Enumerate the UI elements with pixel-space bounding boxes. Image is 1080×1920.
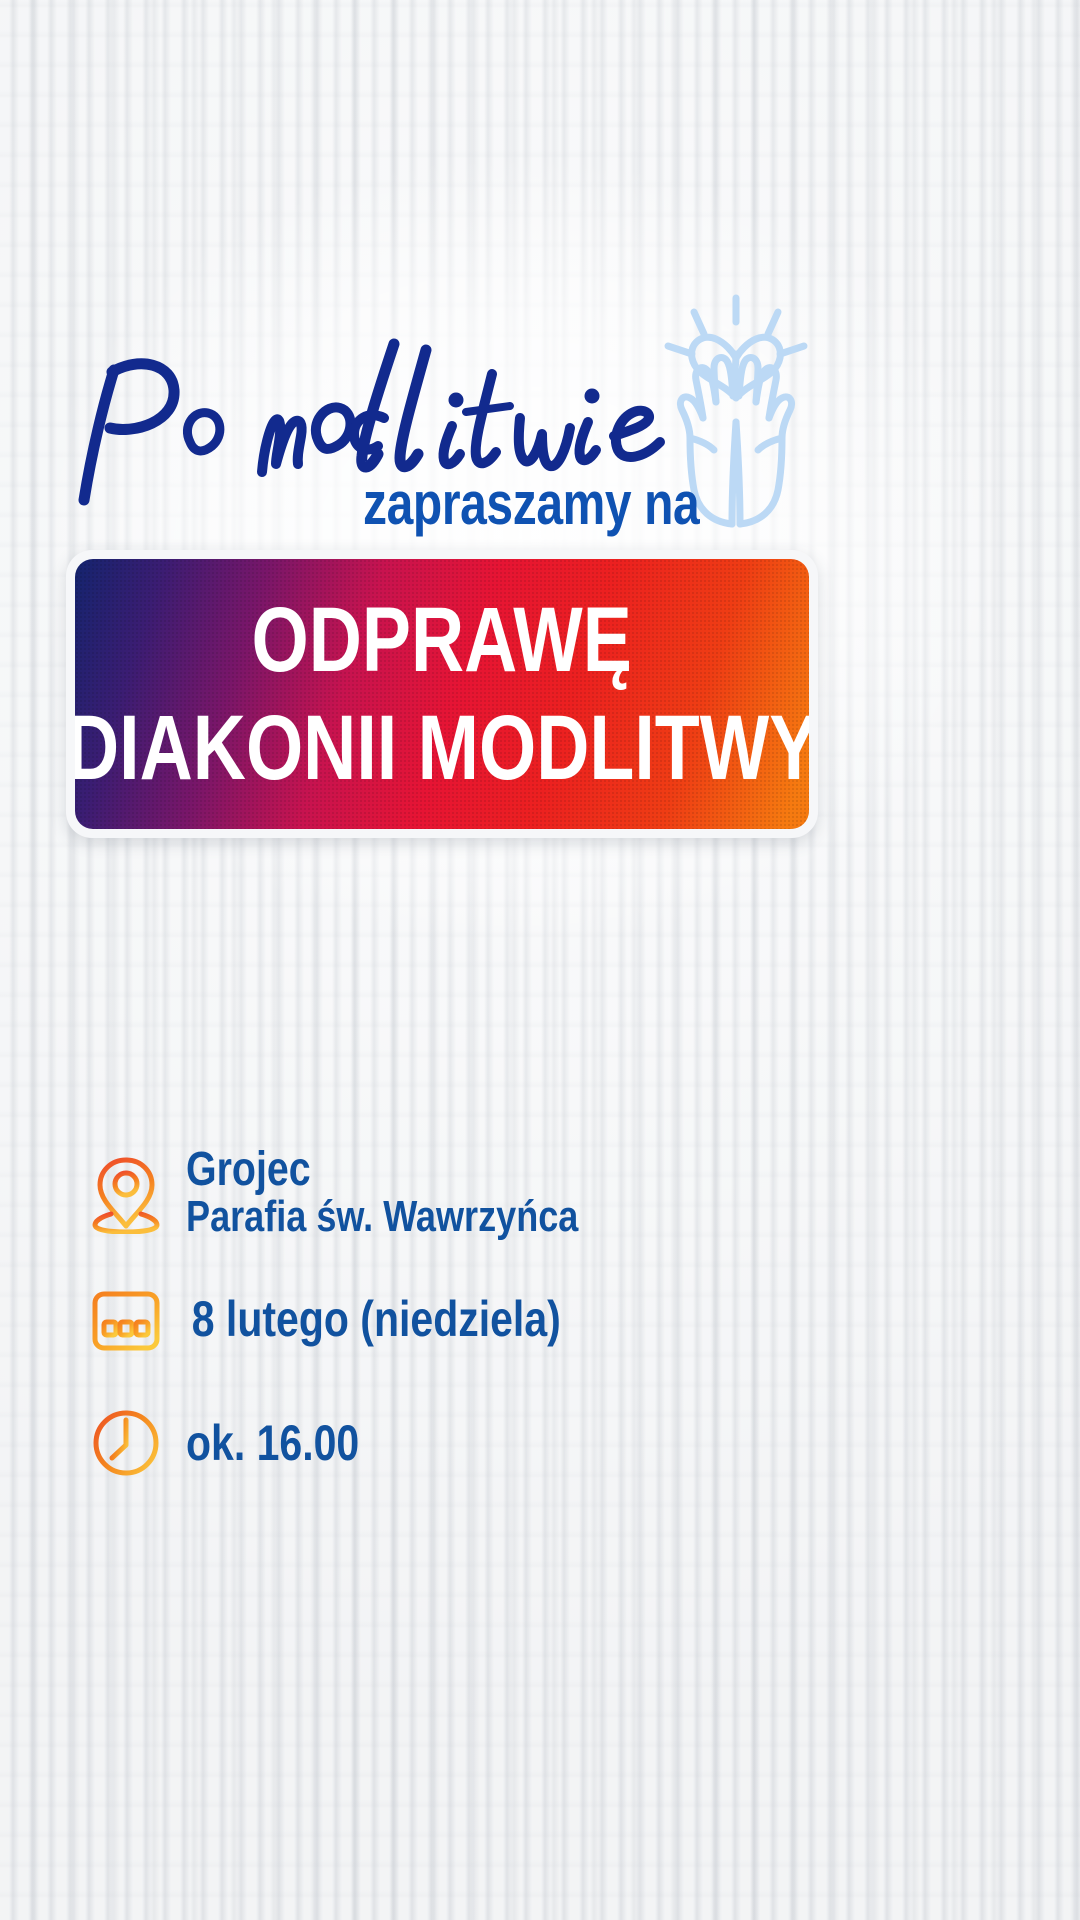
detail-time-text: ok. 16.00	[186, 1418, 397, 1469]
detail-row-location: Grojec Parafia św. Wawrzyńca	[82, 1145, 842, 1241]
detail-date-text: 8 lutego (niedziela)	[186, 1294, 643, 1345]
detail-row-date: 8 lutego (niedziela)	[82, 1271, 842, 1367]
event-banner: ODPRAWĘ DIAKONII MODLITWY	[66, 550, 818, 838]
detail-row-time: ok. 16.00	[82, 1395, 842, 1491]
subtitle: zapraszamy na	[108, 474, 972, 534]
location-pin-icon	[82, 1145, 170, 1241]
event-details: Grojec Parafia św. Wawrzyńca	[82, 1145, 842, 1529]
poster-canvas: zapraszamy na ODPRAWĘ DIAKONII MODLITWY	[0, 0, 1080, 1920]
location-secondary: Parafia św. Wawrzyńca	[186, 1195, 578, 1240]
time-primary: ok. 16.00	[186, 1418, 359, 1469]
banner-line-2: DIAKONII MODLITWY	[75, 702, 809, 794]
banner-line-1: ODPRAWĘ	[252, 594, 632, 686]
event-banner-gradient: ODPRAWĘ DIAKONII MODLITWY	[75, 559, 809, 829]
detail-location-text: Grojec Parafia św. Wawrzyńca	[186, 1146, 665, 1240]
calendar-icon	[82, 1271, 170, 1367]
clock-icon	[82, 1395, 170, 1491]
date-primary: 8 lutego (niedziela)	[186, 1294, 561, 1345]
location-primary: Grojec	[186, 1146, 578, 1195]
